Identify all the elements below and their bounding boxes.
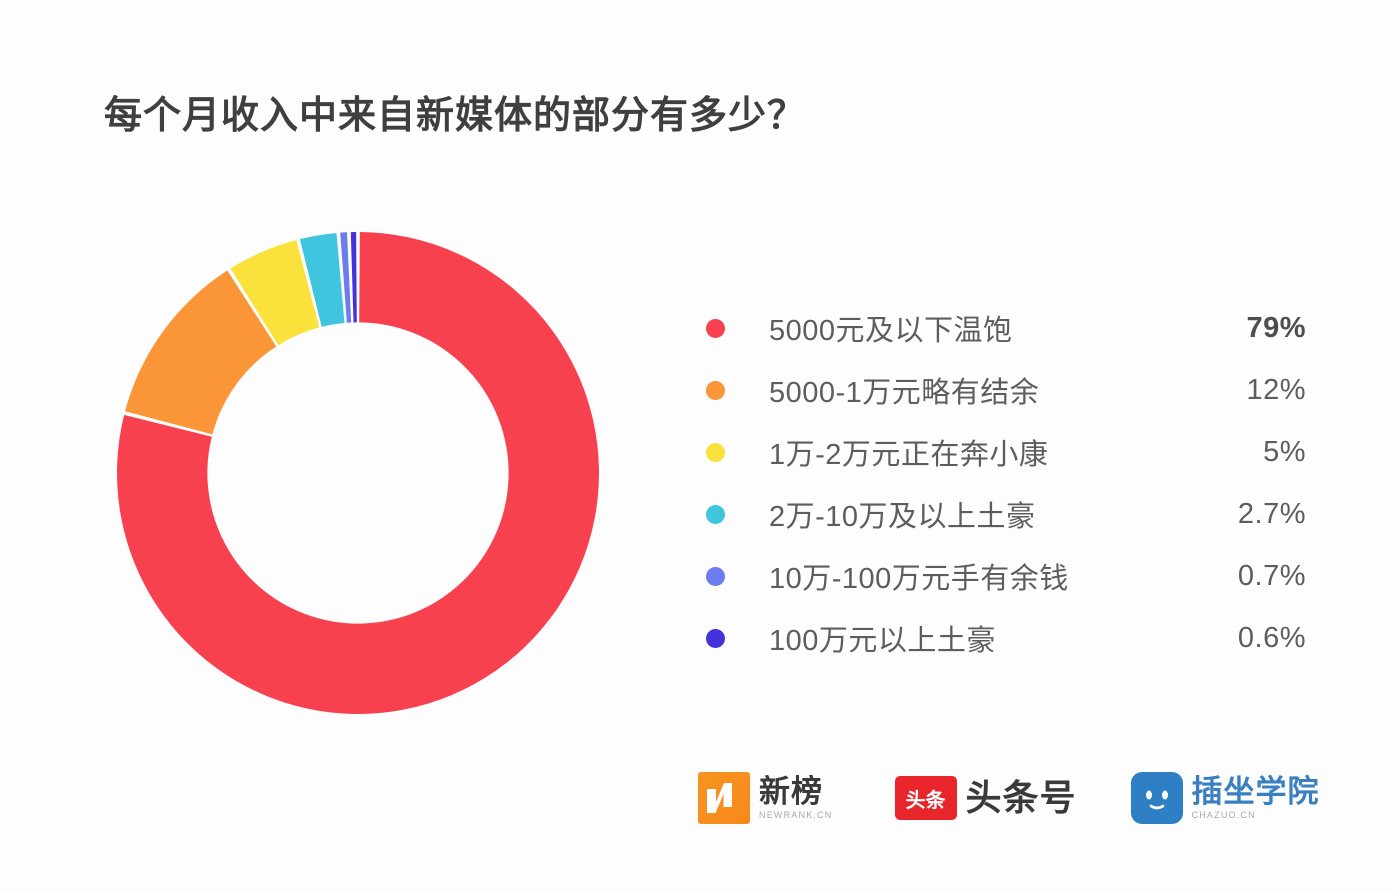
legend-color-swatch-icon [706,567,725,586]
donut-chart [116,231,600,715]
legend-item-value: 0.6% [1180,622,1306,655]
legend-item-value: 5% [1180,436,1306,469]
legend-item[interactable]: 5000-1万元略有结余12% [706,359,1306,421]
chazuo-name: 插坐学院 [1192,776,1320,809]
legend-color-swatch-icon [706,443,725,462]
legend-item-label: 1万-2万元正在奔小康 [769,431,1180,473]
legend-item[interactable]: 5000元及以下温饱79% [706,297,1306,359]
legend-color-swatch-icon [706,505,725,524]
legend-item[interactable]: 10万-100万元手有余钱0.7% [706,545,1306,607]
legend-item-value: 2.7% [1180,498,1306,531]
logo-toutiaohao: 头条 头条号 [895,776,1077,820]
slide-canvas: 每个月收入中来自新媒体的部分有多少？ 5000元及以下温饱79%5000-1万元… [0,0,1399,893]
newrank-n-glyph-icon [698,772,750,824]
chazuo-mark-icon [1131,772,1183,824]
donut-slice-group [117,232,599,714]
chazuo-domain: CHAZUO.CN [1192,810,1320,820]
legend-color-swatch-icon [706,319,725,338]
logo-newrank: 新榜 NEWRANK.CN [698,772,833,824]
legend-item-label: 10万-100万元手有余钱 [769,555,1180,597]
chart-legend: 5000元及以下温饱79%5000-1万元略有结余12%1万-2万元正在奔小康5… [706,297,1306,669]
page-title: 每个月收入中来自新媒体的部分有多少？ [104,84,806,139]
toutiao-mark-icon: 头条 [895,776,957,820]
newrank-name: 新榜 [759,776,833,809]
chazuo-text: 插坐学院 CHAZUO.CN [1192,776,1320,821]
legend-item-label: 5000-1万元略有结余 [769,369,1180,411]
newrank-domain: NEWRANK.CN [759,810,833,820]
toutiaohao-name: 头条号 [966,779,1077,817]
newrank-text: 新榜 NEWRANK.CN [759,776,833,821]
newrank-mark-icon [698,772,750,824]
chazuo-face-glyph-icon [1131,772,1183,824]
donut-slice[interactable] [351,232,357,322]
legend-item[interactable]: 2万-10万及以上土豪2.7% [706,483,1306,545]
toutiaohao-text: 头条号 [966,779,1077,817]
legend-item-value: 0.7% [1180,560,1306,593]
donut-chart-svg [116,231,600,715]
legend-item[interactable]: 100万元以上土豪0.6% [706,607,1306,669]
legend-item-label: 2万-10万及以上土豪 [769,493,1180,535]
legend-item-label: 5000元及以下温饱 [769,307,1180,349]
legend-item-label: 100万元以上土豪 [769,617,1180,659]
logo-chazuo: 插坐学院 CHAZUO.CN [1131,772,1320,824]
legend-color-swatch-icon [706,629,725,648]
legend-item-value: 12% [1180,374,1306,407]
legend-item-value: 79% [1180,312,1306,345]
footer-logo-bar: 新榜 NEWRANK.CN 头条 头条号 插坐学院 CHAZUO.CN [698,772,1320,824]
legend-item[interactable]: 1万-2万元正在奔小康5% [706,421,1306,483]
legend-color-swatch-icon [706,381,725,400]
